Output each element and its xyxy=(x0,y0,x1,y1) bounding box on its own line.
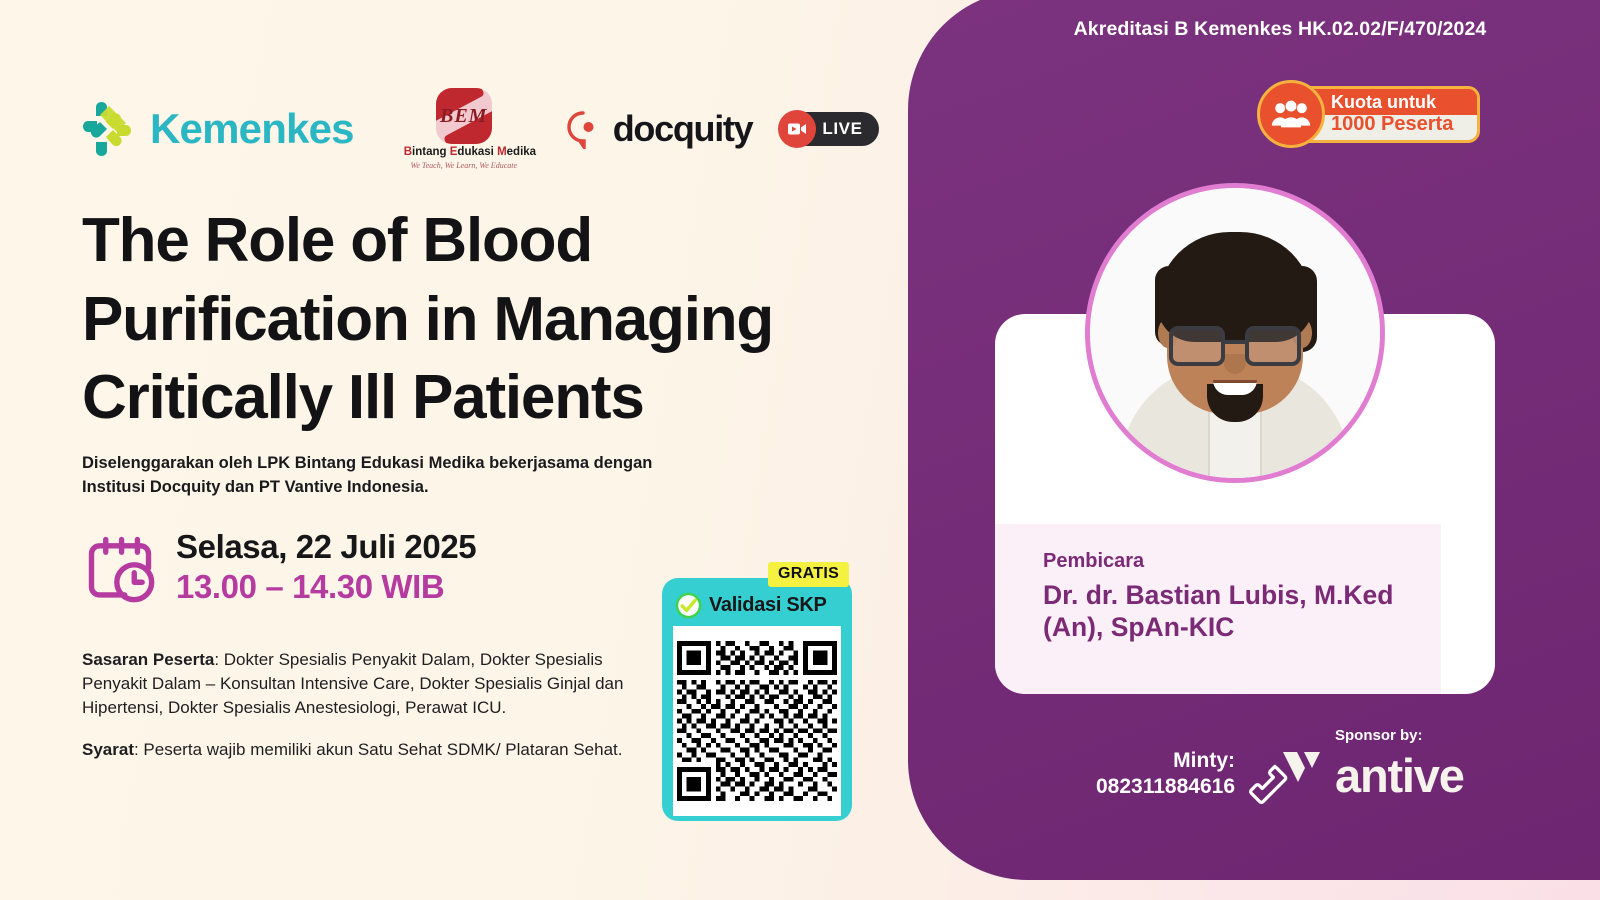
live-badge: LIVE xyxy=(780,112,878,146)
docquity-logo: docquity xyxy=(564,109,753,149)
bem-name: Bintang Edukasi Medika xyxy=(404,146,524,159)
page-title: The Role of Blood Purification in Managi… xyxy=(82,202,872,438)
people-group-icon xyxy=(1257,80,1325,148)
speaker-name: Dr. dr. Bastian Lubis, M.Ked (An), SpAn-… xyxy=(1043,579,1413,644)
quota-line-1: Kuota untuk xyxy=(1331,93,1453,112)
quota-line-2: 1000 Peserta xyxy=(1331,114,1453,135)
bem-tagline: We Teach, We Learn, We Educate xyxy=(404,161,524,170)
contact-name: Minty: xyxy=(1020,748,1235,774)
speaker-portrait-image xyxy=(1090,188,1380,478)
calendar-clock-icon xyxy=(82,530,158,606)
contact-block: Minty: 082311884616 xyxy=(1020,748,1235,801)
qr-code[interactable] xyxy=(673,626,841,816)
vantive-wordmark: antive xyxy=(1335,752,1464,799)
vantive-v-mark xyxy=(1282,750,1334,792)
audience-paragraph: Sasaran Peserta: Dokter Spesialis Penyak… xyxy=(82,648,642,720)
webinar-poster: Akreditasi B Kemenkes HK.02.02/F/470/202… xyxy=(0,0,1600,900)
docquity-speech-bubble-logo xyxy=(564,109,604,149)
subtitle: Diselenggarakan oleh LPK Bintang Edukasi… xyxy=(82,452,702,500)
logo-row: Kemenkes BEM Bintang Edukasi Medika We T… xyxy=(82,88,879,170)
kemenkes-wordmark: Kemenkes xyxy=(150,108,354,150)
sponsor-label: Sponsor by: xyxy=(1335,727,1423,744)
validasi-skp-card[interactable]: Validasi SKP xyxy=(662,578,852,821)
bem-monogram-text: BEM xyxy=(440,105,487,128)
contact-phone[interactable]: 082311884616 xyxy=(1020,774,1235,800)
event-date: Selasa, 22 Juli 2025 xyxy=(176,528,476,567)
event-time: 13.00 – 14.30 WIB xyxy=(176,567,476,607)
speaker-photo xyxy=(1085,183,1385,483)
speaker-info-block: Pembicara Dr. dr. Bastian Lubis, M.Ked (… xyxy=(995,524,1441,694)
video-camera-icon xyxy=(778,110,816,148)
quota-badge: Kuota untuk 1000 Peserta xyxy=(1266,86,1480,143)
validasi-skp-header: Validasi SKP xyxy=(673,588,841,622)
validasi-skp-title: Validasi SKP xyxy=(709,594,827,617)
event-details: Sasaran Peserta: Dokter Spesialis Penyak… xyxy=(82,648,642,781)
audience-label: Sasaran Peserta xyxy=(82,650,214,669)
live-label: LIVE xyxy=(822,119,862,139)
requirement-paragraph: Syarat: Peserta wajib memiliki akun Satu… xyxy=(82,738,642,762)
accreditation-text: Akreditasi B Kemenkes HK.02.02/F/470/202… xyxy=(980,18,1580,41)
docquity-wordmark: docquity xyxy=(613,111,753,147)
kemenkes-flower-logo xyxy=(82,101,138,157)
green-check-circle-icon xyxy=(675,592,702,619)
event-datetime: Selasa, 22 Juli 2025 13.00 – 14.30 WIB xyxy=(82,528,476,607)
vantive-logo: antive xyxy=(1282,750,1464,799)
gratis-badge: GRATIS xyxy=(768,562,849,587)
speaker-label: Pembicara xyxy=(1043,550,1441,573)
requirement-text: : Peserta wajib memiliki akun Satu Sehat… xyxy=(134,740,623,759)
requirement-label: Syarat xyxy=(82,740,134,759)
kemenkes-logo: Kemenkes xyxy=(82,101,354,157)
bem-monogram-icon: BEM xyxy=(436,88,492,144)
bem-logo: BEM Bintang Edukasi Medika We Teach, We … xyxy=(404,88,524,170)
